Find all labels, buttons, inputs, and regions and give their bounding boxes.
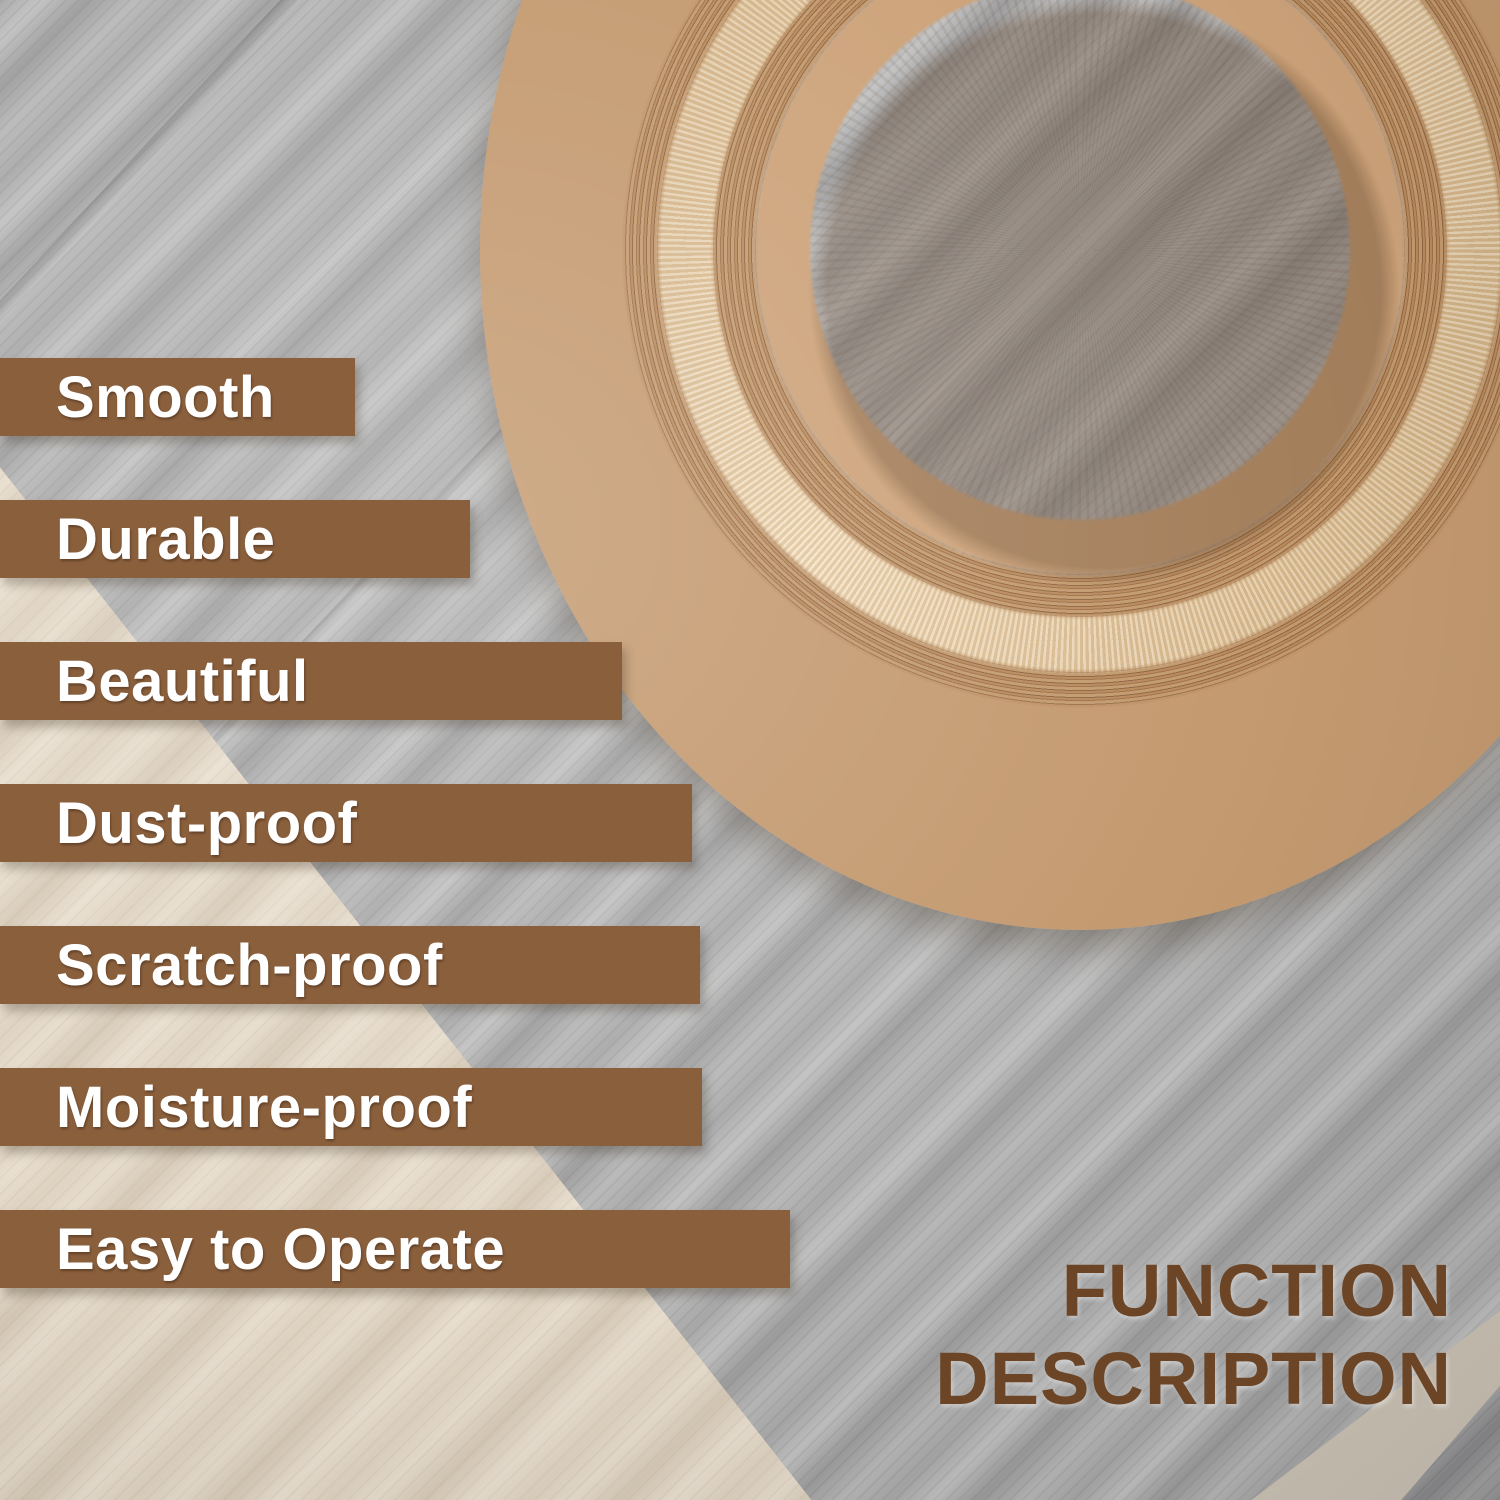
feature-label: Moisture-proof <box>0 1074 472 1141</box>
headline-line-1: FUNCTION <box>935 1247 1452 1334</box>
product-feature-image: Smooth Durable Beautiful Dust-proof Scra… <box>0 0 1500 1500</box>
feature-banner-list: Smooth Durable Beautiful Dust-proof Scra… <box>0 358 820 1352</box>
feature-banner: Durable <box>0 500 470 578</box>
feature-banner: Moisture-proof <box>0 1068 702 1146</box>
feature-banner: Dust-proof <box>0 784 692 862</box>
feature-banner: Smooth <box>0 358 355 436</box>
feature-banner: Easy to Operate <box>0 1210 790 1288</box>
headline-block: FUNCTION DESCRIPTION <box>935 1247 1452 1422</box>
feature-banner: Scratch-proof <box>0 926 700 1004</box>
feature-label: Dust-proof <box>0 790 357 857</box>
headline-line-2: DESCRIPTION <box>935 1335 1452 1422</box>
feature-label: Smooth <box>0 364 275 431</box>
feature-banner: Beautiful <box>0 642 622 720</box>
feature-label: Scratch-proof <box>0 932 443 999</box>
feature-label: Easy to Operate <box>0 1216 505 1283</box>
feature-label: Durable <box>0 506 275 573</box>
feature-label: Beautiful <box>0 648 309 715</box>
